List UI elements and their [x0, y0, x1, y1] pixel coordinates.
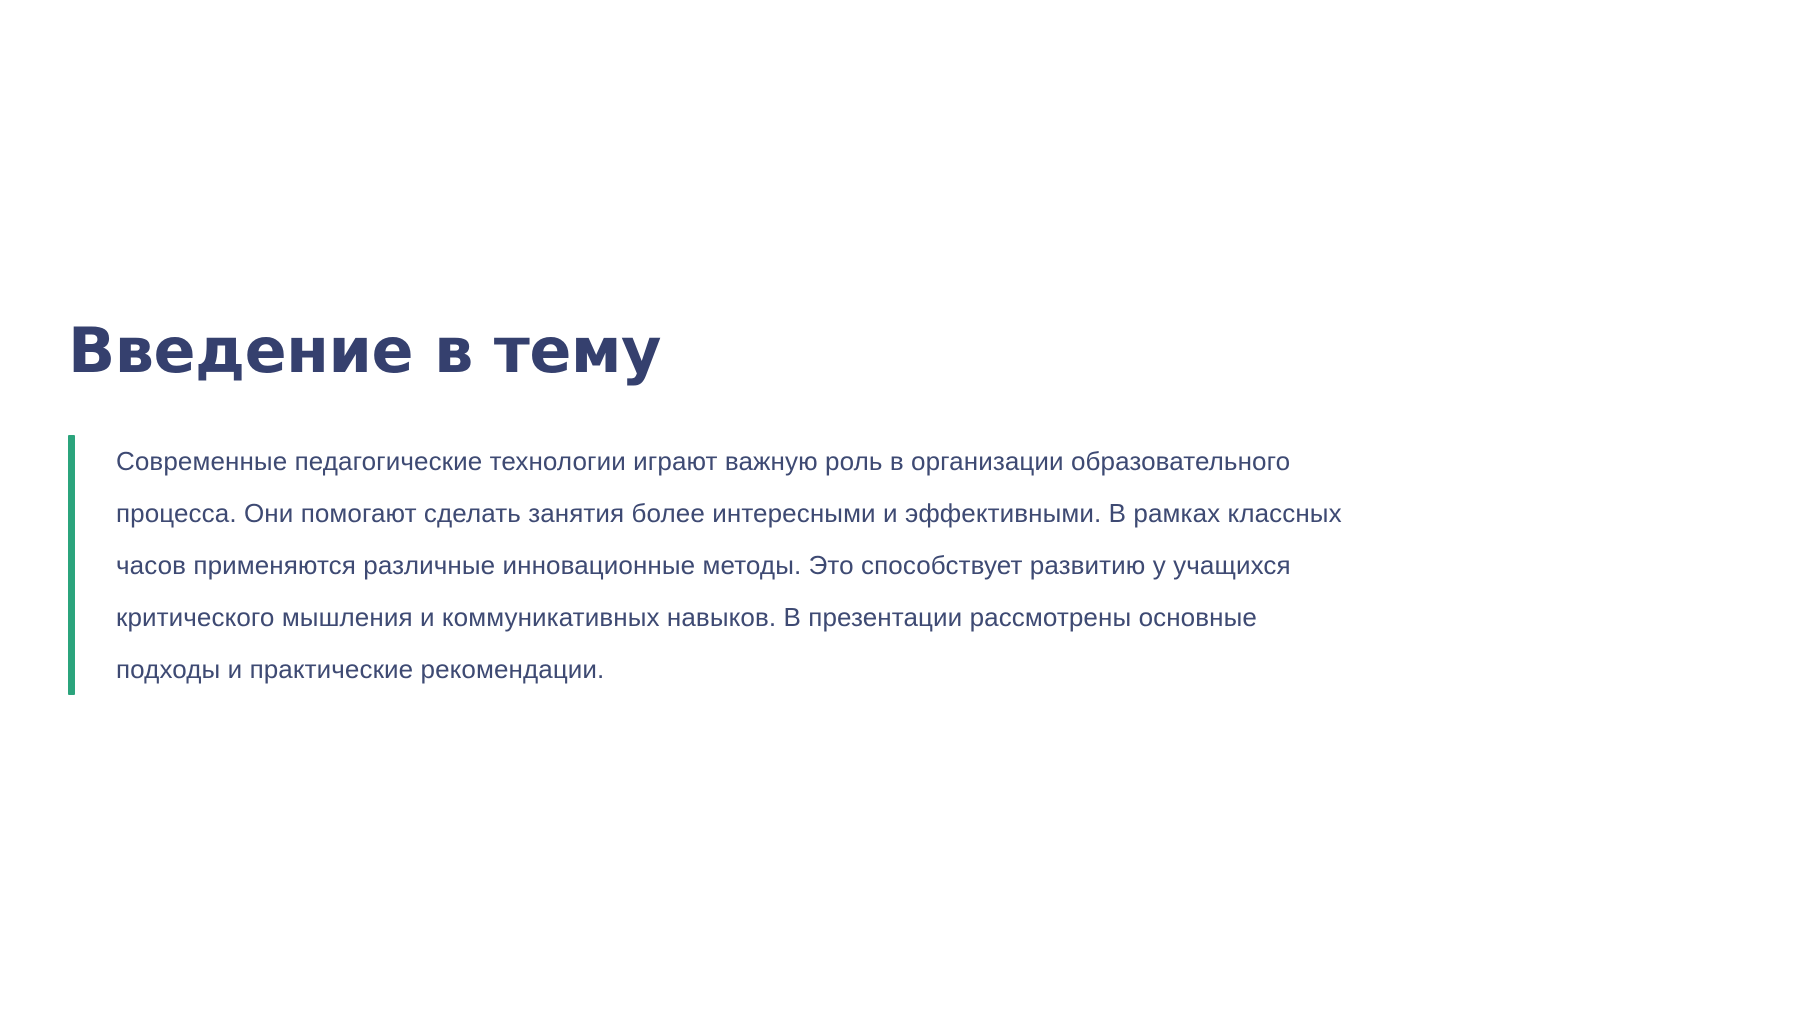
body-line: критического мышления и коммуникативных …	[116, 591, 1728, 643]
body-line: подходы и практические рекомендации.	[116, 643, 1728, 695]
body-line: Современные педагогические технологии иг…	[116, 435, 1728, 487]
body-text-container: Современные педагогические технологии иг…	[75, 435, 1728, 695]
page-title: Введение в тему	[68, 315, 661, 387]
body-paragraph: Современные педагогические технологии иг…	[116, 435, 1728, 695]
accent-bar	[68, 435, 75, 695]
slide-canvas: Введение в тему Современные педагогическ…	[0, 0, 1800, 1013]
body-line: процесса. Они помогают сделать занятия б…	[116, 487, 1728, 539]
body-block: Современные педагогические технологии иг…	[68, 435, 1728, 695]
body-line: часов применяются различные инновационны…	[116, 539, 1728, 591]
